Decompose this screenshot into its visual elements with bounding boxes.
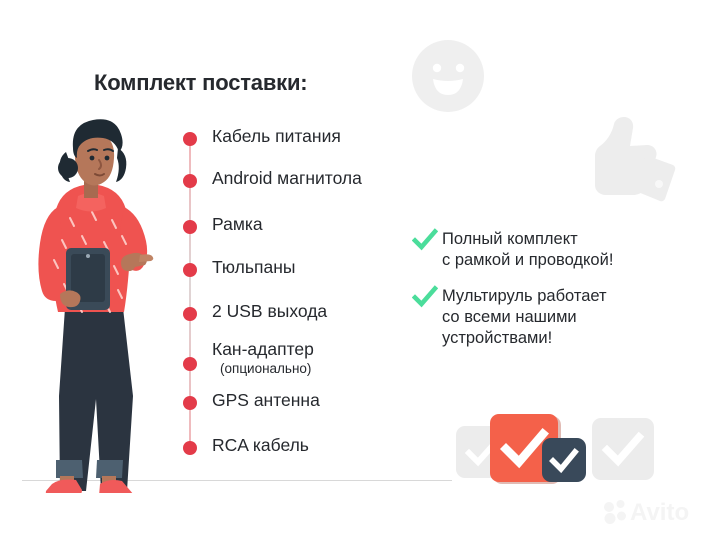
- checkbox-gray-large-icon: [592, 418, 654, 480]
- bullet-dot-icon: [183, 220, 197, 234]
- list-item-label: GPS антенна: [212, 391, 320, 410]
- thumbs-up-watermark-icon: [578, 114, 682, 210]
- avito-logo-watermark: Avito: [600, 494, 706, 528]
- bullet-dot-icon: [183, 263, 197, 277]
- list-item-label: RCA кабель: [212, 436, 309, 455]
- svg-text:Avito: Avito: [630, 499, 689, 526]
- list-item-label: 2 USB выхода: [212, 302, 327, 321]
- decorative-checkbox-cluster: [456, 412, 656, 492]
- bullet-dot-icon: [183, 357, 197, 371]
- promo-image-canvas: Комплект поставки: Кабель питания Androi…: [0, 0, 720, 540]
- benefit-item: Мультируль работает со всеми нашими устр…: [412, 285, 702, 349]
- package-contents-list: Кабель питания Android магнитола Рамка Т…: [180, 130, 420, 460]
- list-item-label: Android магнитола: [212, 169, 362, 188]
- bullet-dot-icon: [183, 174, 197, 188]
- green-check-icon: [412, 227, 438, 253]
- bullet-dot-icon: [183, 307, 197, 321]
- woman-pointing-with-tablet-illustration: [18, 108, 166, 493]
- benefit-item: Полный комплект с рамкой и проводкой!: [412, 228, 702, 271]
- bullet-dot-icon: [183, 441, 197, 455]
- bullet-dot-icon: [183, 132, 197, 146]
- list-item-label: Рамка: [212, 215, 263, 234]
- smiley-face-watermark-icon: [409, 37, 487, 115]
- list-item-label: Кан-адаптер: [212, 340, 314, 359]
- benefit-text: Полный комплект с рамкой и проводкой!: [442, 228, 613, 271]
- benefits-list: Полный комплект с рамкой и проводкой! Му…: [412, 228, 702, 364]
- list-item-label: Кабель питания: [212, 127, 341, 146]
- page-title: Комплект поставки:: [94, 70, 307, 96]
- benefit-text: Мультируль работает со всеми нашими устр…: [442, 285, 607, 349]
- bullet-dot-icon: [183, 396, 197, 410]
- list-item-label: Тюльпаны: [212, 258, 295, 277]
- checkbox-slate-icon: [542, 438, 586, 482]
- green-check-icon: [412, 284, 438, 310]
- list-item-sublabel: (опционально): [220, 362, 311, 377]
